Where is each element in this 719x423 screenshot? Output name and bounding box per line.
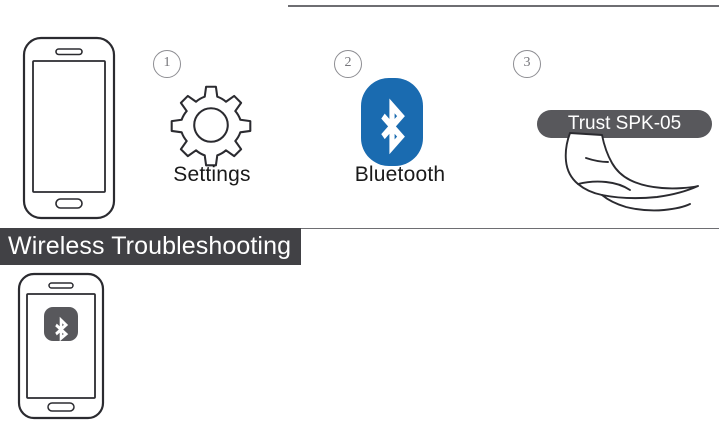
hand-pointing-icon-top [562, 131, 704, 227]
wireless-troubleshooting-section: Wireless Troubleshooting no devices foun… [0, 228, 719, 423]
step-number-badge-1: 1 [153, 50, 181, 78]
section-title-bar: Wireless Troubleshooting [0, 228, 301, 265]
smartphone-outline-icon [22, 36, 116, 220]
page-title: Wireless Troubleshooting [8, 232, 291, 261]
gear-icon [167, 82, 255, 168]
smartphone-outline-icon-bottom [17, 272, 105, 420]
bluetooth-icon [361, 78, 423, 166]
step-label-bluetooth: Bluetooth [345, 163, 455, 187]
step-number-badge-2: 2 [334, 50, 362, 78]
step-number-badge-3: 3 [513, 50, 541, 78]
bluetooth-badge-icon [44, 307, 78, 341]
pairing-steps-section: 1 Settings 2 Bl [0, 0, 719, 228]
step-label-settings: Settings [166, 163, 258, 187]
instruction-diagram: 1 Settings 2 Bl [0, 0, 719, 423]
